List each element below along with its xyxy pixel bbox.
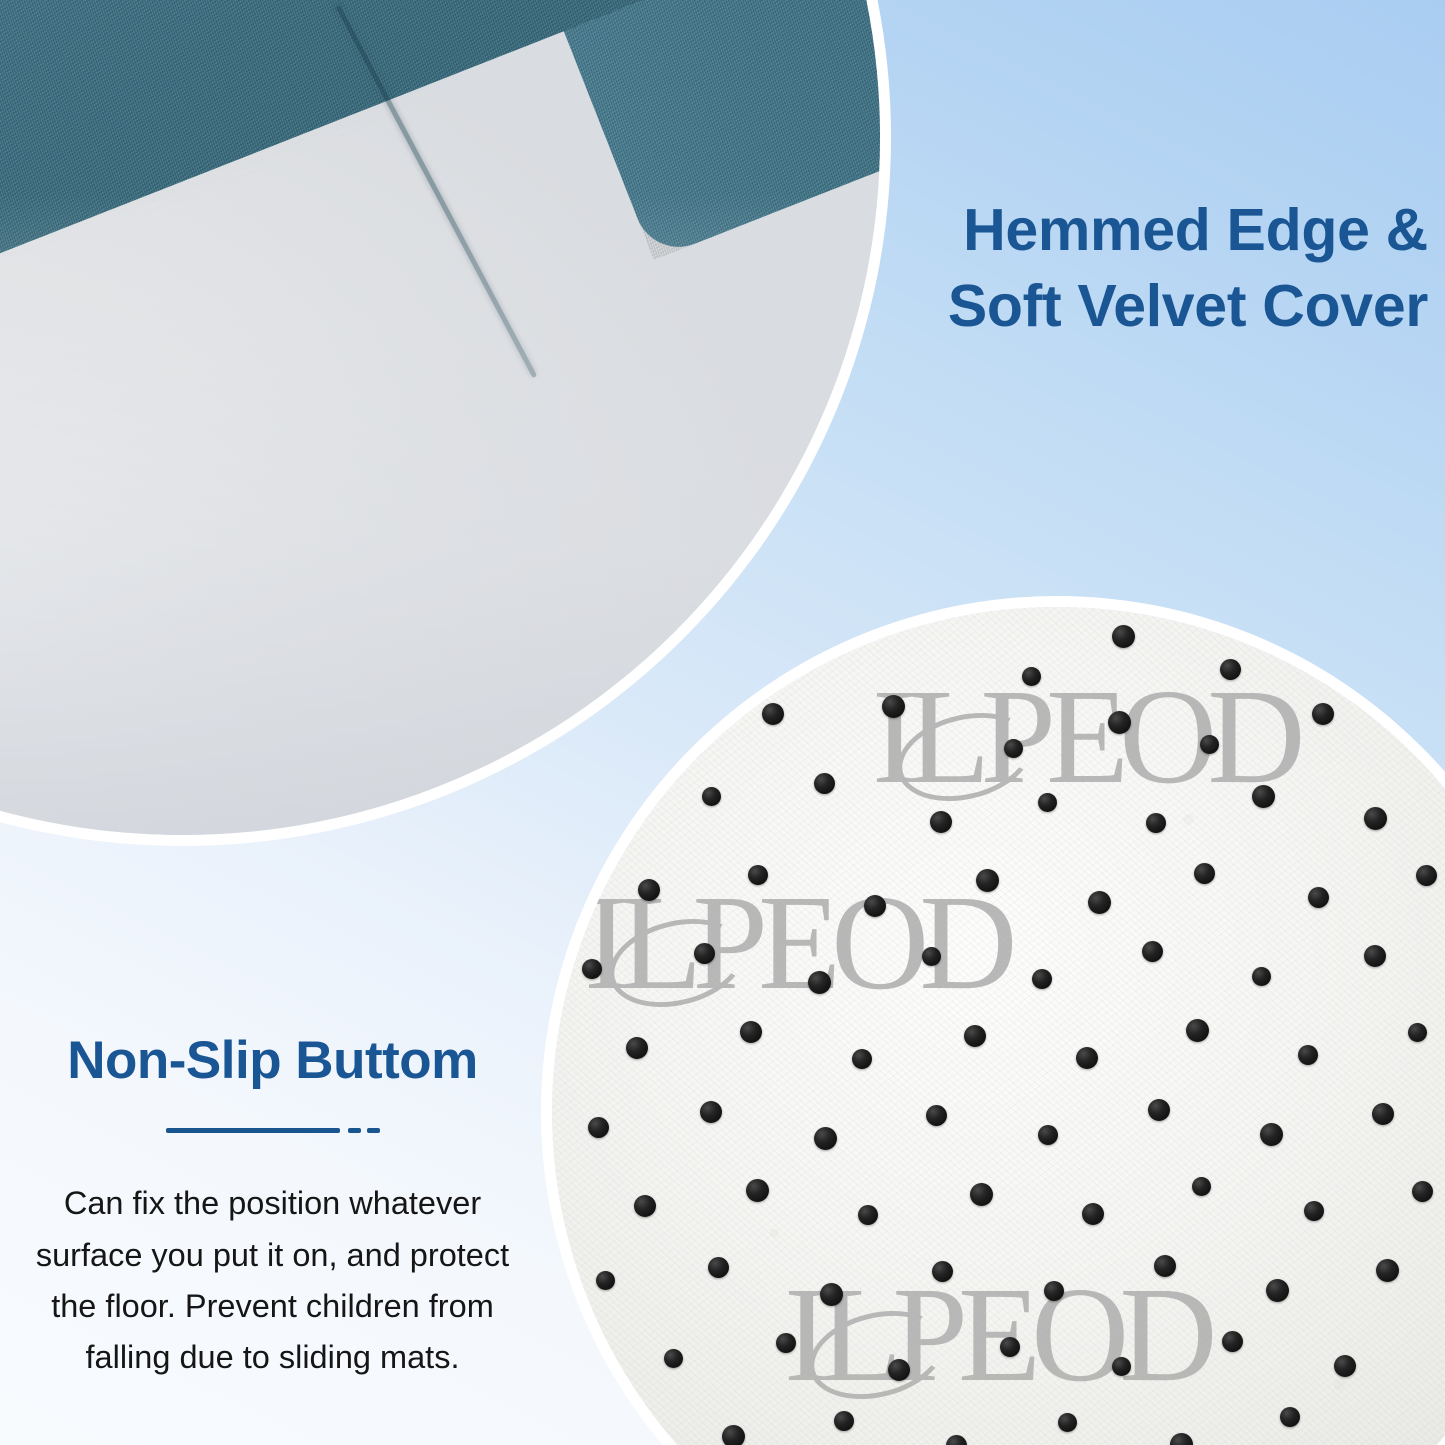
rubber-dot	[1032, 969, 1052, 989]
rubber-dot	[694, 943, 715, 964]
rubber-dot	[1186, 1019, 1209, 1042]
rubber-dot	[852, 1049, 872, 1069]
rubber-dot	[976, 869, 999, 892]
rubber-dot	[746, 1179, 769, 1202]
rubber-dot	[964, 1025, 986, 1047]
rubber-dot	[1266, 1279, 1289, 1302]
feature-title: Non-Slip Buttom	[0, 1032, 545, 1090]
rubber-dot	[864, 895, 886, 917]
rubber-dot	[634, 1195, 656, 1217]
watermark-swash	[600, 906, 754, 1021]
rubber-dot	[1082, 1203, 1104, 1225]
rubber-dot	[808, 971, 831, 994]
rubber-dot	[1364, 945, 1386, 967]
rubber-dot	[700, 1101, 722, 1123]
rubber-dot	[926, 1105, 947, 1126]
rubber-dot	[1364, 807, 1387, 830]
rubber-dot	[814, 773, 835, 794]
rubber-dot	[1170, 1433, 1193, 1445]
rubber-dot	[970, 1183, 993, 1206]
rubber-dot	[932, 1261, 953, 1282]
rubber-dot	[1412, 1181, 1433, 1202]
brand-watermark: ILPEOD	[872, 669, 1296, 805]
rubber-dot	[1038, 793, 1057, 812]
rubber-dot	[588, 1117, 609, 1138]
rubber-dot	[1298, 1045, 1318, 1065]
rubber-dot	[1076, 1047, 1098, 1069]
rubber-dot	[888, 1359, 910, 1381]
rubber-dot	[582, 959, 602, 979]
nonslip-mat-photo-circle: ILPEOD ILPEOD ILPEOD	[552, 607, 1445, 1445]
rubber-dot	[814, 1127, 837, 1150]
rubber-dot	[664, 1349, 683, 1368]
poster-canvas: ILPEOD ILPEOD ILPEOD Hemmed Edge & Soft …	[0, 0, 1445, 1445]
rubber-dot	[1372, 1103, 1394, 1125]
rubber-dot	[708, 1257, 729, 1278]
rubber-dot	[1088, 891, 1111, 914]
rubber-dot	[748, 865, 768, 885]
rubber-dot	[1312, 703, 1334, 725]
rubber-dot	[1058, 1413, 1077, 1432]
rubber-dot	[882, 695, 905, 718]
divider-dash-2	[367, 1128, 380, 1133]
rubber-dot	[1112, 1357, 1131, 1376]
rubber-dot	[722, 1425, 745, 1445]
rubber-dot	[1408, 1023, 1427, 1042]
rubber-dot	[740, 1021, 762, 1043]
rubber-dot	[1194, 863, 1215, 884]
rubber-dot	[946, 1435, 967, 1445]
watermark-swash	[888, 700, 1042, 815]
watermark-swash	[800, 1298, 954, 1413]
rubber-dot	[1112, 625, 1135, 648]
rubber-dot	[1154, 1255, 1176, 1277]
rubber-dot	[1022, 667, 1041, 686]
headline-line-1: Hemmed Edge &	[963, 197, 1428, 263]
rubber-dot	[702, 787, 721, 806]
rubber-dot	[1146, 813, 1166, 833]
rubber-dot	[1252, 785, 1275, 808]
feature-body: Can fix the position whatever surface yo…	[0, 1178, 545, 1383]
rubber-dot	[638, 879, 660, 901]
rubber-dot	[1260, 1123, 1283, 1146]
rubber-dot	[1222, 1331, 1243, 1352]
rubber-dot	[1304, 1201, 1324, 1221]
brand-watermark: ILPEOD	[784, 1267, 1208, 1403]
rubber-dot	[930, 811, 952, 833]
rubber-dot	[1200, 735, 1219, 754]
rubber-dot	[820, 1283, 843, 1306]
rubber-dot	[1376, 1259, 1399, 1282]
rubber-dot	[1000, 1337, 1020, 1357]
divider	[166, 1128, 380, 1134]
mat-photo-backdrop: ILPEOD ILPEOD ILPEOD	[552, 607, 1445, 1445]
rubber-dot	[596, 1271, 615, 1290]
divider-bar	[166, 1128, 340, 1133]
rubber-dot	[834, 1411, 854, 1431]
rubber-dot	[858, 1205, 878, 1225]
divider-dash-1	[348, 1128, 361, 1133]
rubber-dot	[1416, 865, 1437, 886]
rubber-dot	[1108, 711, 1131, 734]
rubber-dot	[922, 947, 941, 966]
rubber-dot	[1142, 941, 1163, 962]
rubber-dot	[1004, 739, 1023, 758]
rubber-dot	[1280, 1407, 1300, 1427]
rubber-dot	[762, 703, 784, 725]
rubber-dot	[1220, 659, 1241, 680]
rubber-dot	[1308, 887, 1329, 908]
feature-block: Non-Slip Buttom Can fix the position wha…	[0, 1032, 545, 1384]
rubber-dot	[626, 1037, 648, 1059]
rubber-dot	[1334, 1355, 1356, 1377]
headline: Hemmed Edge & Soft Velvet Cover	[728, 192, 1428, 344]
rubber-dot	[1252, 967, 1271, 986]
rubber-dot	[1148, 1099, 1170, 1121]
rubber-dot	[1044, 1281, 1064, 1301]
rubber-dot	[1192, 1177, 1211, 1196]
rubber-dot	[776, 1333, 796, 1353]
rubber-dot	[1038, 1125, 1058, 1145]
headline-line-2: Soft Velvet Cover	[728, 268, 1428, 344]
